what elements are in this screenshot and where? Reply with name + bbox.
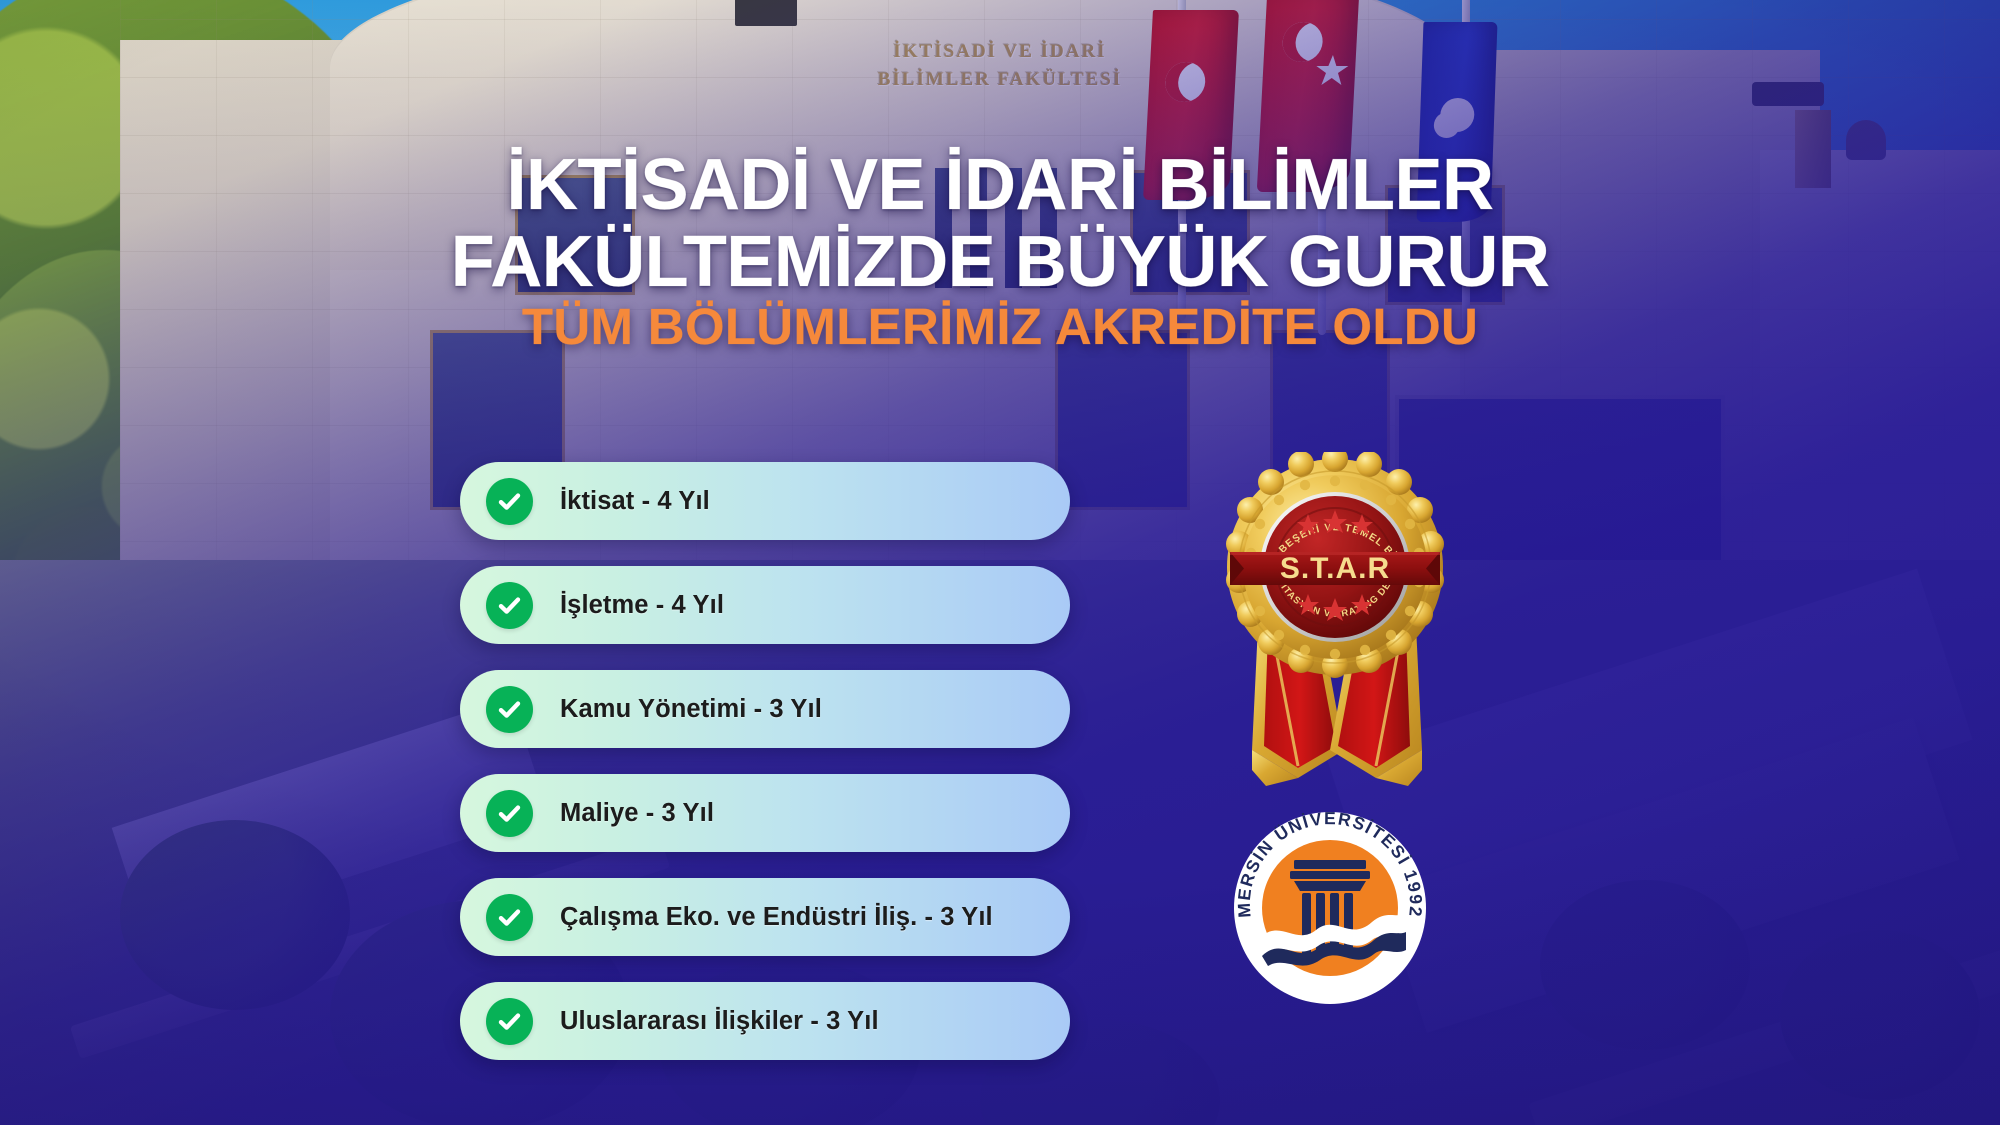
list-item-label: Uluslararası İlişkiler - 3 Yıl bbox=[560, 1007, 879, 1036]
program-list: İktisat - 4 Yıl İşletme - 4 Yıl Kamu Yön… bbox=[460, 462, 1070, 1086]
check-circle-icon bbox=[486, 686, 533, 733]
poster-root: İKTİSADİ VE İDARİ BİLİMLER FAKÜLTESİ bbox=[0, 0, 2000, 1125]
university-logo: MERSİN ÜNİVERSİTESİ 1992 bbox=[1232, 810, 1428, 1006]
list-item-label: İktisat - 4 Yıl bbox=[560, 487, 710, 516]
badge-center-text: S.T.A.R bbox=[1280, 552, 1390, 585]
headline-line-2: FAKÜLTEMİZDE BÜYÜK GURUR bbox=[0, 224, 2000, 301]
page-subtitle: TÜM BÖLÜMLERİMİZ AKREDİTE OLDU bbox=[0, 297, 2000, 356]
list-item[interactable]: Kamu Yönetimi - 3 Yıl bbox=[460, 670, 1070, 748]
page-title: İKTİSADİ VE İDARİ BİLİMLER FAKÜLTEMİZDE … bbox=[0, 147, 2000, 301]
list-item[interactable]: İktisat - 4 Yıl bbox=[460, 462, 1070, 540]
check-circle-icon bbox=[486, 790, 533, 837]
list-item[interactable]: İşletme - 4 Yıl bbox=[460, 566, 1070, 644]
check-circle-icon bbox=[486, 582, 533, 629]
list-item[interactable]: Maliye - 3 Yıl bbox=[460, 774, 1070, 852]
list-item-label: İşletme - 4 Yıl bbox=[560, 591, 724, 620]
check-circle-icon bbox=[486, 894, 533, 941]
headline-line-1: İKTİSADİ VE İDARİ BİLİMLER bbox=[506, 145, 1493, 225]
list-item-label: Maliye - 3 Yıl bbox=[560, 799, 714, 828]
check-circle-icon bbox=[486, 478, 533, 525]
list-item[interactable]: Uluslararası İlişkiler - 3 Yıl bbox=[460, 982, 1070, 1060]
list-item-label: Çalışma Eko. ve Endüstri İliş. - 3 Yıl bbox=[560, 903, 993, 932]
star-accreditation-badge: SOSYAL BEŞERİ VE TEMEL BİLİMLER AKREDİTA… bbox=[1220, 452, 1450, 682]
list-item-label: Kamu Yönetimi - 3 Yıl bbox=[560, 695, 822, 724]
check-circle-icon bbox=[486, 998, 533, 1045]
list-item[interactable]: Çalışma Eko. ve Endüstri İliş. - 3 Yıl bbox=[460, 878, 1070, 956]
